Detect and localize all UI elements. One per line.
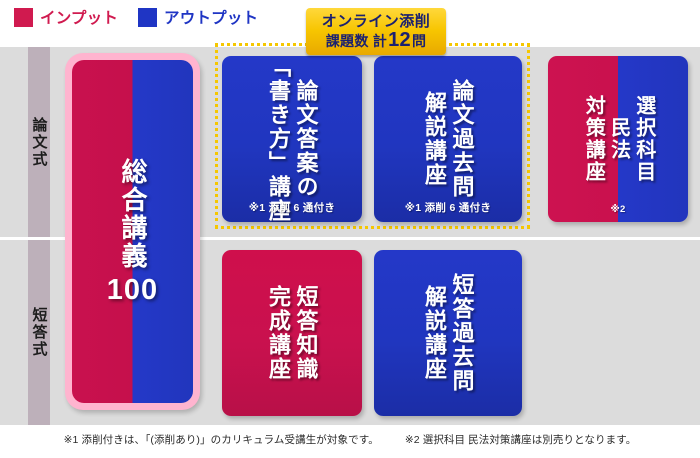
blue-square-icon — [138, 8, 157, 27]
card-essay-past-exam-course-text: 論文過去問 解説講座 — [374, 56, 522, 222]
row-label-essay: 論文式 — [28, 47, 50, 237]
banner-line2-prefix: 課題数 計 — [326, 34, 387, 48]
card-comprehensive-lecture-text: 総合講義 100 — [72, 60, 193, 403]
card-comprehensive-lecture-number: 100 — [107, 276, 158, 305]
banner-line1: オンライン添削 — [322, 14, 431, 29]
card-comprehensive-lecture[interactable]: 総合講義 100 — [65, 53, 200, 410]
card-essay-past-exam-course-col2: 解説講座 — [421, 91, 447, 187]
card-elective-civil-law-course-col2: 民法 — [606, 117, 629, 161]
footnote-1: ※1 添削付きは、「(添削あり)」のカリキュラム受講生が対象です。 — [64, 432, 379, 447]
card-short-answer-past-exam-course[interactable]: 短答過去問 解説講座 — [374, 250, 522, 416]
card-short-answer-past-exam-course-text: 短答過去問 解説講座 — [374, 250, 522, 416]
card-short-answer-knowledge-course-col1: 短答知識 — [293, 285, 319, 381]
card-essay-writing-course-col2: 「書き方」講座 — [265, 56, 291, 222]
card-essay-writing-course-note: ※1 添削 6 通付き — [222, 200, 362, 215]
card-short-answer-past-exam-course-col1: 短答過去問 — [449, 273, 475, 393]
card-elective-civil-law-course-col3: 対策講座 — [581, 95, 604, 183]
card-elective-civil-law-course-col1: 選択科目 — [632, 95, 655, 183]
banner-assignment-count: 12 — [388, 30, 411, 50]
legend-item-output: アウトプット — [138, 6, 258, 28]
footnote-2: ※2 選択科目 民法対策講座は別売りとなります。 — [405, 432, 637, 447]
card-elective-civil-law-course-note: ※2 — [548, 204, 688, 215]
card-essay-writing-course-text: 論文答案の 「書き方」講座 — [222, 56, 362, 222]
card-elective-civil-law-course-text: 選択科目 民法 対策講座 — [548, 56, 688, 222]
course-curriculum-diagram: インプット アウトプット 論文式 短答式 オンライン添削 課題数 計12問 総合… — [0, 0, 700, 458]
card-short-answer-knowledge-course-col2: 完成講座 — [265, 285, 291, 381]
card-short-answer-knowledge-course[interactable]: 短答知識 完成講座 — [222, 250, 362, 416]
footnotes: ※1 添削付きは、「(添削あり)」のカリキュラム受講生が対象です。 ※2 選択科… — [0, 432, 700, 447]
legend-label-input: インプット — [40, 6, 118, 28]
card-essay-writing-course-col1: 論文答案の — [293, 79, 319, 199]
red-square-icon — [14, 8, 33, 27]
card-short-answer-past-exam-course-col2: 解説講座 — [421, 285, 447, 381]
banner-line2: 課題数 計12問 — [326, 30, 427, 50]
row-label-short: 短答式 — [28, 240, 50, 425]
card-essay-past-exam-course-col1: 論文過去問 — [449, 79, 475, 199]
card-comprehensive-lecture-title: 総合講義 — [118, 158, 147, 270]
online-grading-banner: オンライン添削 課題数 計12問 — [306, 8, 446, 55]
card-essay-past-exam-course[interactable]: 論文過去問 解説講座 ※1 添削 6 通付き — [374, 56, 522, 222]
banner-line2-suffix: 問 — [412, 34, 426, 48]
legend: インプット アウトプット — [14, 5, 258, 29]
card-comprehensive-lecture-body: 総合講義 100 — [72, 60, 193, 403]
card-essay-past-exam-course-note: ※1 添削 6 通付き — [374, 200, 522, 215]
card-elective-civil-law-course[interactable]: 選択科目 民法 対策講座 ※2 — [548, 56, 688, 222]
card-essay-writing-course[interactable]: 論文答案の 「書き方」講座 ※1 添削 6 通付き — [222, 56, 362, 222]
legend-item-input: インプット — [14, 6, 118, 28]
legend-label-output: アウトプット — [164, 6, 258, 28]
card-short-answer-knowledge-course-text: 短答知識 完成講座 — [222, 250, 362, 416]
